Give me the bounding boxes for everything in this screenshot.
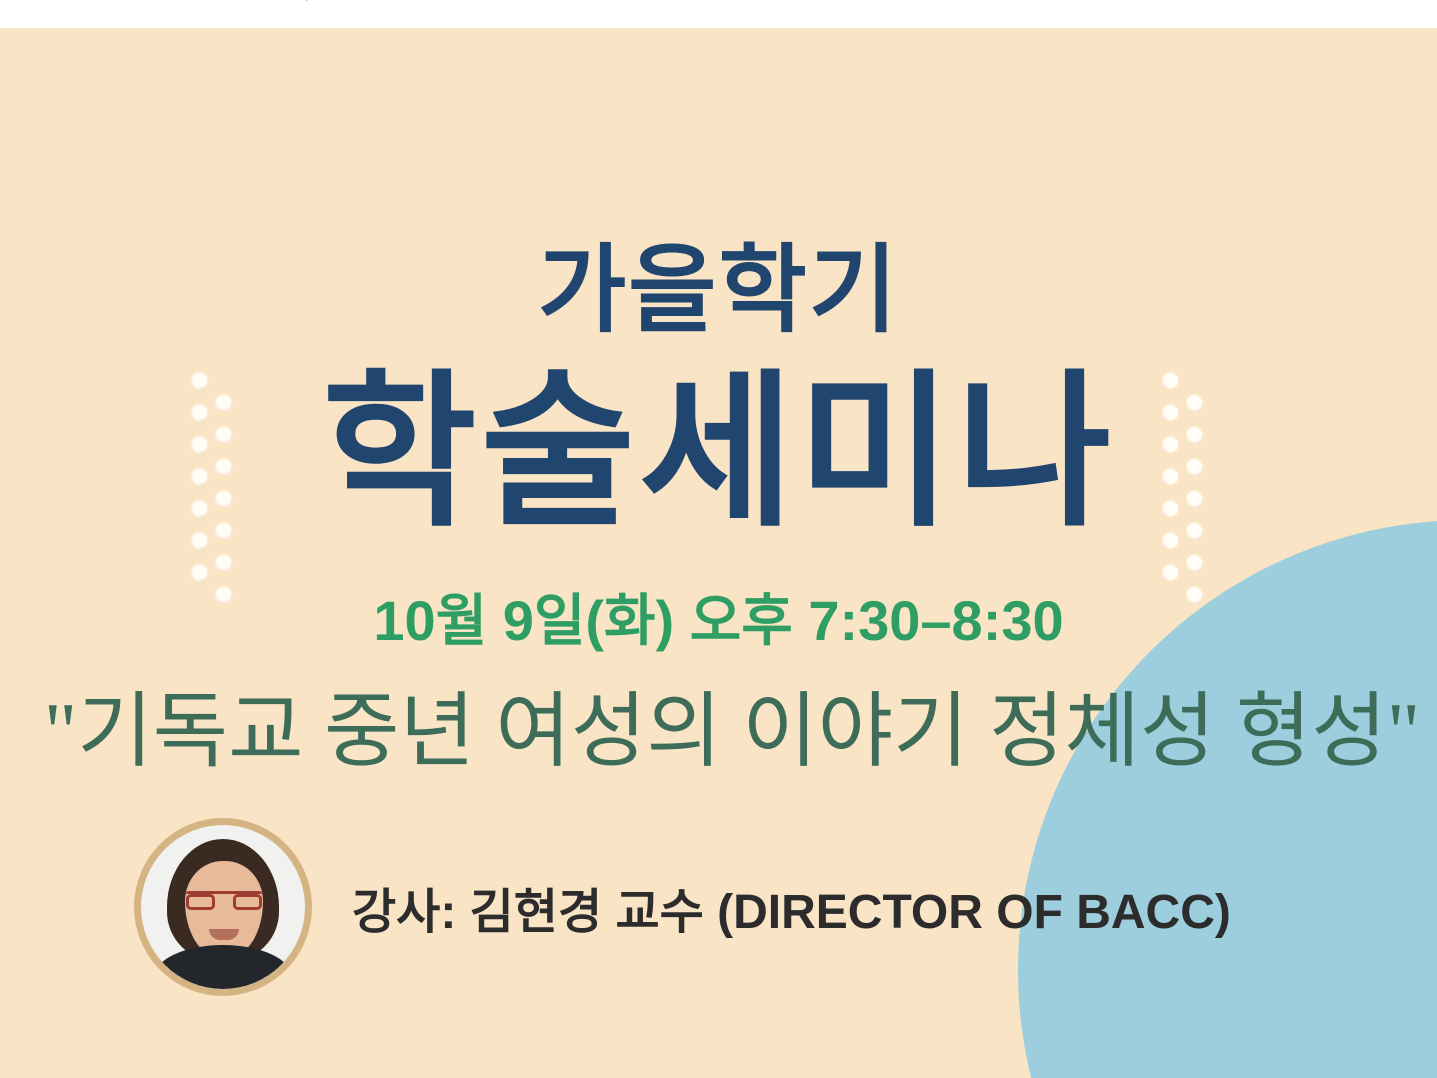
portrait-glasses-icon	[186, 891, 262, 911]
clipped-text-fragment-left: ㅋ	[296, 0, 310, 7]
portrait-shoulders	[155, 945, 291, 996]
clipped-text-fragment-right: /	[818, 0, 822, 3]
seminar-topic: "기독교 중년 여성의 이야기 정체성 형성"	[0, 686, 1437, 778]
speaker-name-label: 강사: 김현경 교수 (DIRECTOR OF BACC)	[352, 872, 1231, 942]
top-clipped-strip: ㅋ /	[0, 0, 1437, 28]
speaker-row: 강사: 김현경 교수 (DIRECTOR OF BACC)	[134, 818, 1231, 996]
seminar-poster: ㅋ /	[0, 0, 1437, 1078]
poster-canvas: 가을학기 학술세미나 10월 9일(화) 오후 7:30–8:30 "기독교 중…	[0, 28, 1437, 1078]
page-title: 학술세미나	[0, 368, 1437, 536]
semester-label: 가을학기	[0, 243, 1437, 339]
event-datetime: 10월 9일(화) 오후 7:30–8:30	[0, 593, 1437, 649]
poster-content: 가을학기 학술세미나 10월 9일(화) 오후 7:30–8:30 "기독교 중…	[0, 28, 1437, 1078]
speaker-portrait-icon	[134, 818, 312, 996]
